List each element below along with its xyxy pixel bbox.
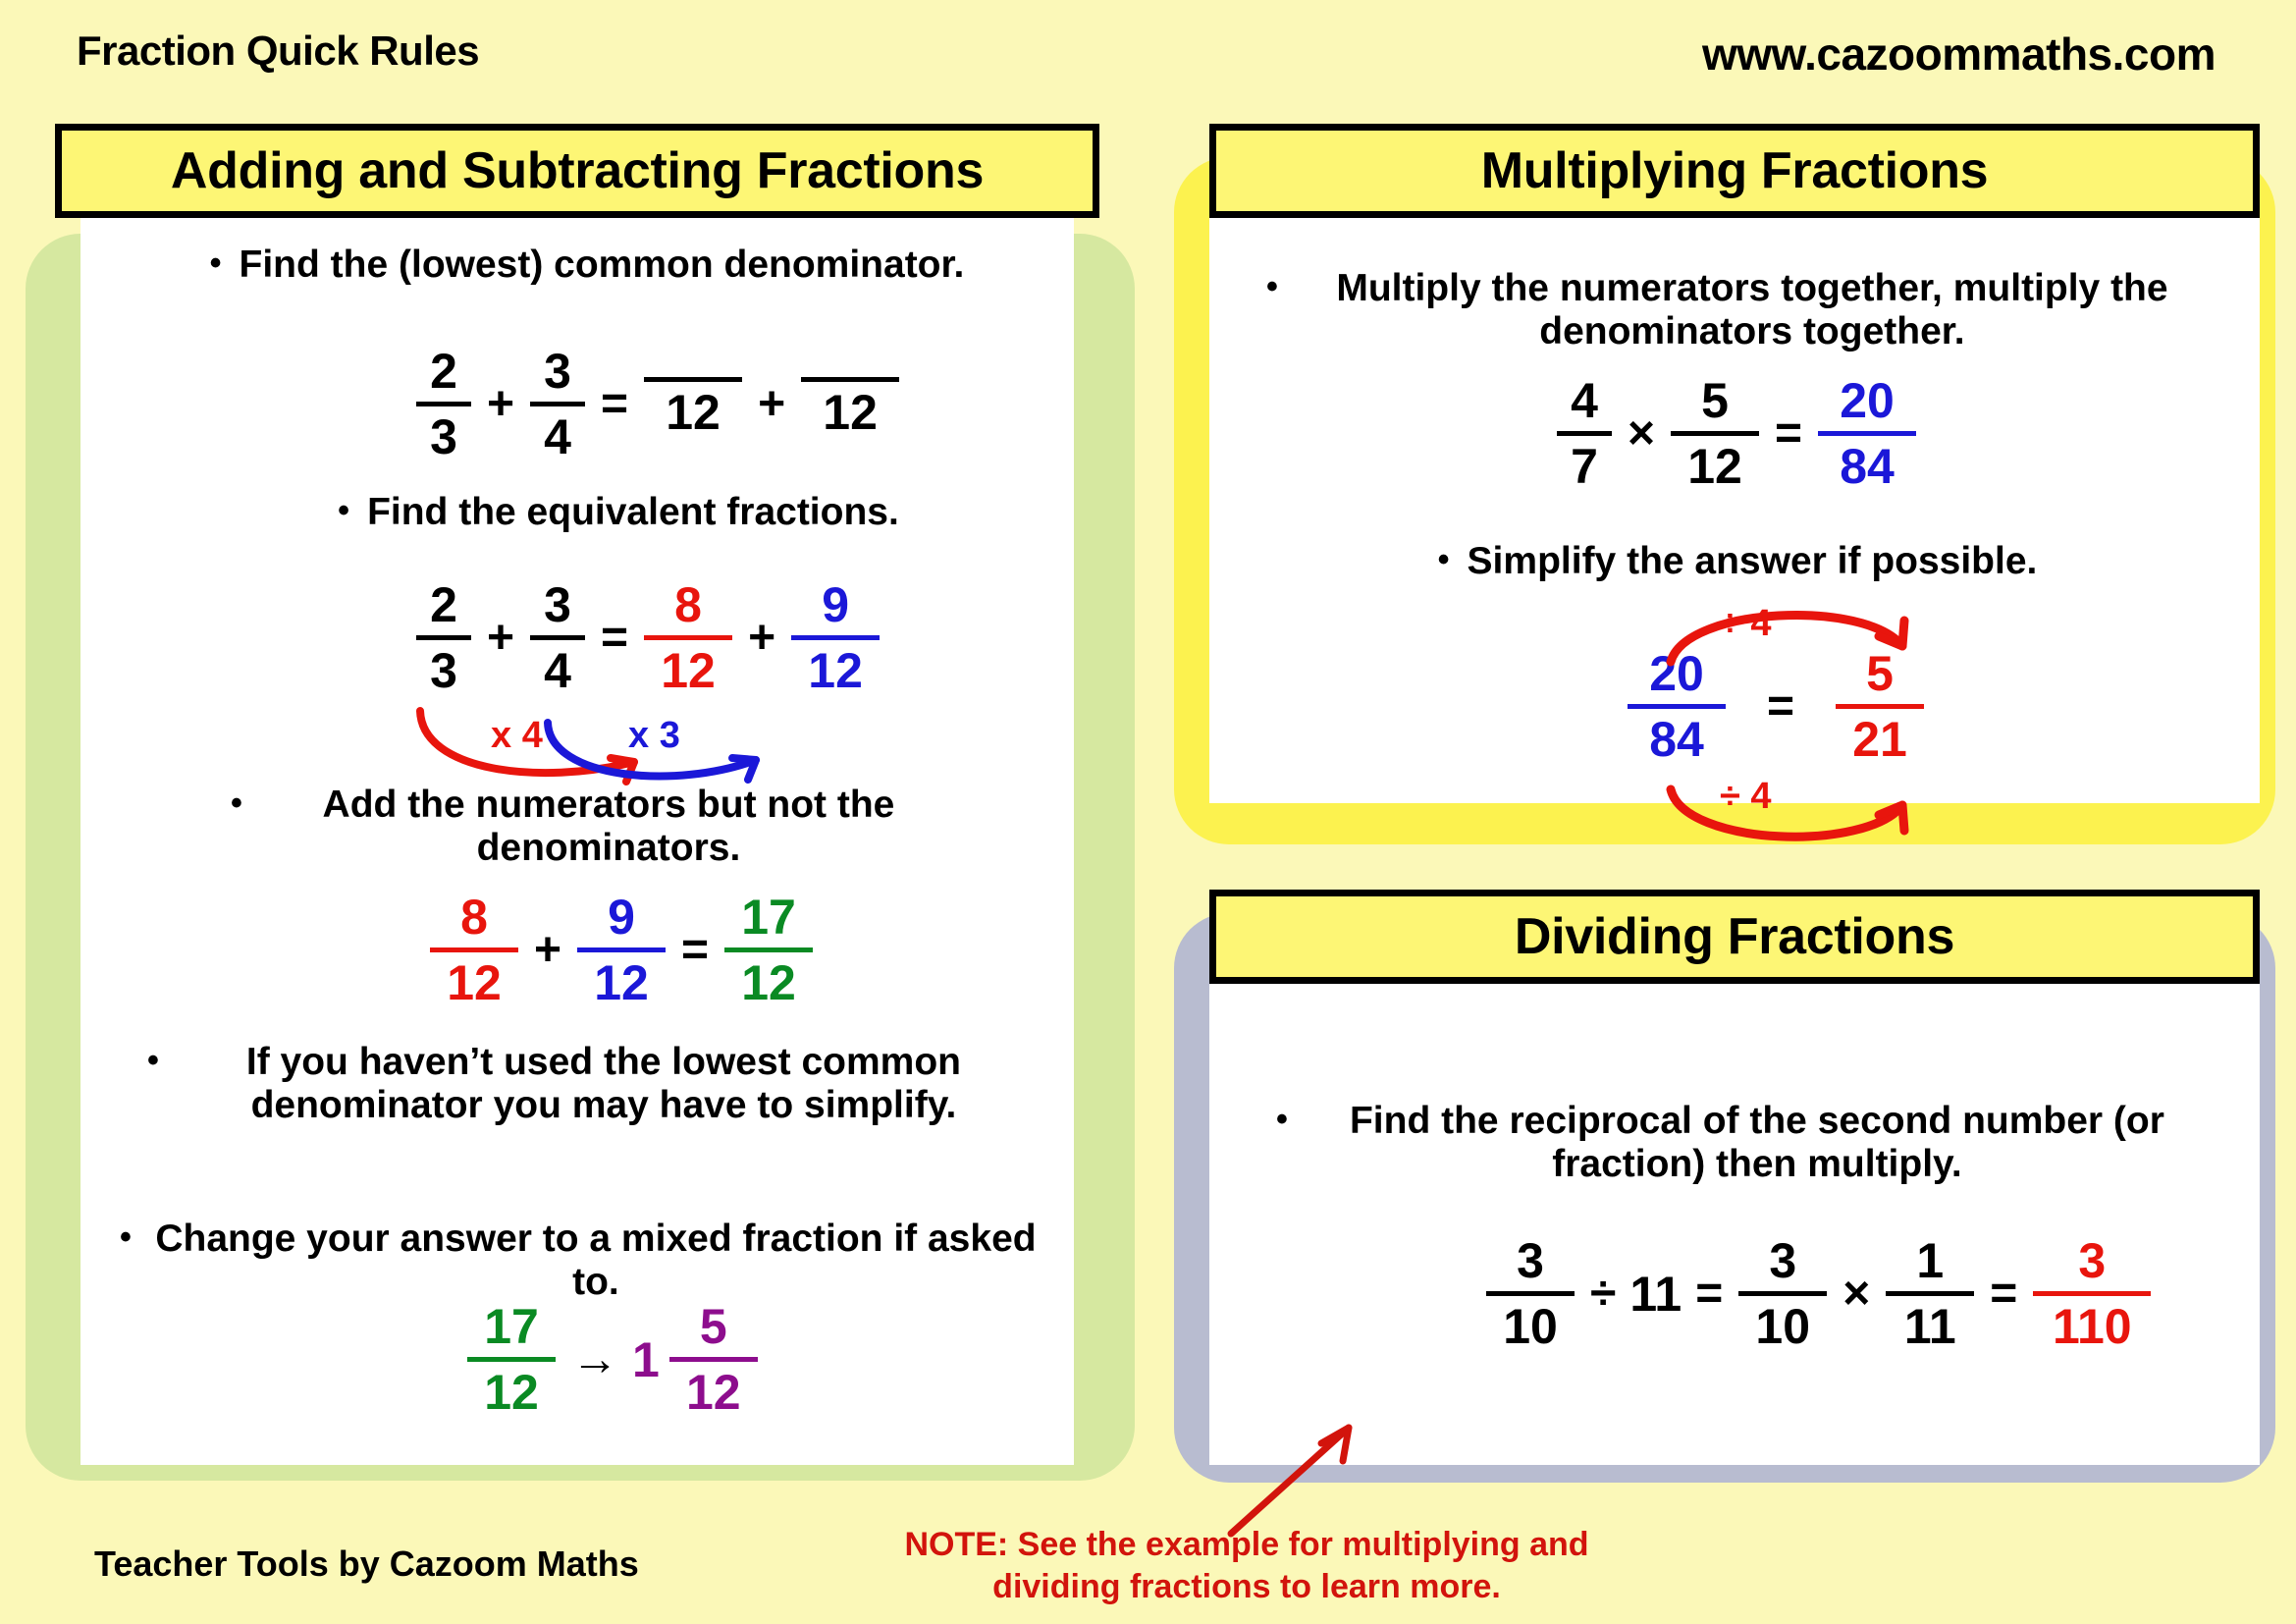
bullet-multiplying-1: • Multiply the numerators together, mult… [1266,267,2209,352]
arrow-label-divide-4-bottom: ÷ 4 [1720,776,1772,818]
bullet-dot-icon: • [210,244,222,284]
fraction-bar [791,635,880,640]
bullet-dividing-1: • Find the reciprocal of the second numb… [1276,1100,2209,1185]
fraction-bar [467,1357,556,1362]
numerator: 3 [2068,1235,2115,1286]
equation-adding-4: 17 12 → 1 5 12 [461,1301,764,1418]
fraction-8-12: 8 12 [430,892,518,1008]
bullet-adding-4: • If you haven’t used the lowest common … [147,1041,1031,1126]
numerator: 9 [812,579,859,630]
fraction-5-12: 5 12 [1671,375,1759,492]
numerator: 17 [478,1301,545,1352]
bullet-label: Multiply the numerators together, multip… [1296,267,2209,352]
bullet-adding-5: • Change your answer to a mixed fraction… [120,1218,1042,1303]
fraction-bar [1486,1291,1575,1296]
denominator: 7 [1561,441,1608,492]
bottom-note-line-1: NOTE: See the example for multiplying an… [864,1524,1629,1566]
bullet-label: Find the equivalent fractions. [367,491,899,534]
bullet-label: If you haven’t used the lowest common de… [177,1041,1031,1126]
arrow-label-times-4: x 4 [491,715,543,757]
fraction-bar [416,635,471,640]
equation-dividing-1: 3 10 ÷ 11 = 3 10 × 1 11 = 3 110 [1480,1235,2157,1352]
numerator: 3 [1507,1235,1554,1286]
fraction-5-21: 5 21 [1836,648,1924,765]
denominator: 12 [588,957,655,1008]
denominator: 12 [680,1367,747,1418]
fraction-bar [669,1357,758,1362]
numerator: 8 [451,892,498,943]
operator-plus: + [477,381,524,428]
fraction-bar [1886,1291,1974,1296]
fraction-3-4: 3 4 [530,579,585,696]
operator-equals: = [1765,410,1812,458]
fraction-8-12: 8 12 [644,579,732,696]
equation-adding-3: 8 12 + 9 12 = 17 12 [424,892,819,1008]
operator-plus: + [738,615,785,662]
numerator [827,370,874,372]
numerator: 20 [1643,648,1710,699]
arrow-label-divide-4-top: ÷ 4 [1720,603,1772,645]
denominator: 4 [534,645,581,696]
arrow-label-times-3: x 3 [628,715,680,757]
fraction-3-10-b: 3 10 [1738,1235,1827,1352]
fraction-bar [644,635,732,640]
denominator: 12 [478,1367,545,1418]
bullet-dot-icon: • [1276,1100,1288,1140]
fraction-bar [1557,431,1612,436]
bullet-adding-2: • Find the equivalent fractions. [245,491,991,534]
numerator: 3 [534,579,581,630]
operator-plus: + [477,615,524,662]
fraction-20-84: 20 84 [1818,375,1916,492]
denominator: 3 [420,411,467,462]
fraction-bar [430,947,518,952]
operator-divide: ÷ [1580,1271,1626,1318]
numerator: 3 [1759,1235,1806,1286]
panel-body-dividing [1209,984,2260,1465]
bullet-dot-icon: • [231,784,242,824]
numerator: 1 [1906,1235,1953,1286]
fraction-5-12: 5 12 [669,1301,758,1418]
denominator: 21 [1846,714,1913,765]
numerator: 5 [690,1301,737,1352]
fraction-blank-12-b: 12 [801,370,899,438]
bullet-label: Add the numerators but not the denominat… [260,784,957,869]
bullet-dot-icon: • [338,491,349,531]
operator-equals-2: = [1980,1271,2027,1318]
fraction-bar [530,635,585,640]
numerator: 2 [420,579,467,630]
numerator [669,370,717,372]
denominator: 110 [2047,1301,2138,1352]
numerator: 9 [598,892,645,943]
fraction-bar [416,402,471,406]
fraction-9-12: 9 12 [791,579,880,696]
footer-credit: Teacher Tools by Cazoom Maths [94,1543,639,1585]
fraction-bar [2033,1291,2151,1296]
fraction-blank-12-a: 12 [644,370,742,438]
denominator: 12 [802,645,869,696]
denominator: 84 [1834,441,1900,492]
equation-adding-1: 2 3 + 3 4 = 12 + 12 [410,346,905,462]
whole-number: 1 [628,1331,664,1388]
fraction-bar [1628,704,1726,709]
bullet-adding-1: • Find the (lowest) common denominator. [116,244,1058,287]
whole-number-11: 11 [1626,1266,1685,1323]
site-url: www.cazoommaths.com [1702,27,2216,81]
denominator: 12 [817,387,883,438]
equation-multiplying-1: 4 7 × 5 12 = 20 84 [1551,375,1922,492]
denominator: 12 [655,645,721,696]
fraction-1-11: 1 11 [1886,1235,1974,1352]
equation-multiplying-2: 20 84 = 5 21 [1622,648,1930,765]
fraction-bar [801,377,899,382]
fraction-2-3: 2 3 [416,579,471,696]
operator-arrow-right: → [561,1336,628,1383]
fraction-3-4: 3 4 [530,346,585,462]
denominator: 4 [534,411,581,462]
fraction-bar [1818,431,1916,436]
panel-title-adding: Adding and Subtracting Fractions [55,124,1099,218]
equation-adding-2: 2 3 + 3 4 = 8 12 + 9 12 [410,579,885,696]
bullet-label: Change your answer to a mixed fraction i… [149,1218,1042,1303]
fraction-4-7: 4 7 [1557,375,1612,492]
bullet-dot-icon: • [120,1218,132,1258]
numerator: 5 [1856,648,1903,699]
denominator: 3 [420,645,467,696]
numerator: 20 [1834,375,1900,426]
fraction-2-3: 2 3 [416,346,471,462]
operator-equals: = [591,381,638,428]
operator-plus: + [748,381,795,428]
panel-title-multiplying: Multiplying Fractions [1209,124,2260,218]
operator-equals-1: = [1685,1271,1733,1318]
fraction-bar [1836,704,1924,709]
operator-plus: + [524,927,571,974]
fraction-bar [724,947,813,952]
denominator: 10 [1497,1301,1564,1352]
page-title: Fraction Quick Rules [77,27,479,75]
fraction-17-12: 17 12 [467,1301,556,1418]
denominator: 12 [1682,441,1748,492]
fraction-20-84: 20 84 [1628,648,1726,765]
numerator: 8 [665,579,712,630]
fraction-bar [644,377,742,382]
fraction-3-10: 3 10 [1486,1235,1575,1352]
bottom-note: NOTE: See the example for multiplying an… [864,1524,1629,1607]
panel-title-dividing: Dividing Fractions [1209,890,2260,984]
bullet-label: Simplify the answer if possible. [1468,540,2038,583]
bullet-dot-icon: • [1438,540,1450,580]
bullet-multiplying-2: • Simplify the answer if possible. [1374,540,2101,583]
operator-equals: = [671,927,719,974]
denominator: 84 [1643,714,1710,765]
operator-equals: = [1732,683,1830,731]
numerator: 3 [534,346,581,397]
bullet-adding-3: • Add the numerators but not the denomin… [231,784,957,869]
operator-times: × [1833,1271,1880,1318]
bottom-note-line-2: dividing fractions to learn more. [864,1566,1629,1608]
denominator: 10 [1749,1301,1816,1352]
numerator: 5 [1691,375,1738,426]
fraction-bar [1738,1291,1827,1296]
denominator: 11 [1898,1301,1962,1352]
fraction-bar [530,402,585,406]
bullet-dot-icon: • [1266,267,1278,307]
fraction-bar [1671,431,1759,436]
numerator: 4 [1561,375,1608,426]
denominator: 12 [660,387,726,438]
numerator: 17 [735,892,802,943]
bullet-label: Find the (lowest) common denominator. [240,244,965,287]
bullet-dot-icon: • [147,1041,159,1081]
fraction-9-12: 9 12 [577,892,666,1008]
operator-times: × [1618,410,1665,458]
denominator: 12 [735,957,802,1008]
fraction-3-110: 3 110 [2033,1235,2151,1352]
bullet-label: Find the reciprocal of the second number… [1306,1100,2209,1185]
operator-equals: = [591,615,638,662]
fraction-17-12: 17 12 [724,892,813,1008]
fraction-bar [577,947,666,952]
numerator: 2 [420,346,467,397]
denominator: 12 [441,957,507,1008]
